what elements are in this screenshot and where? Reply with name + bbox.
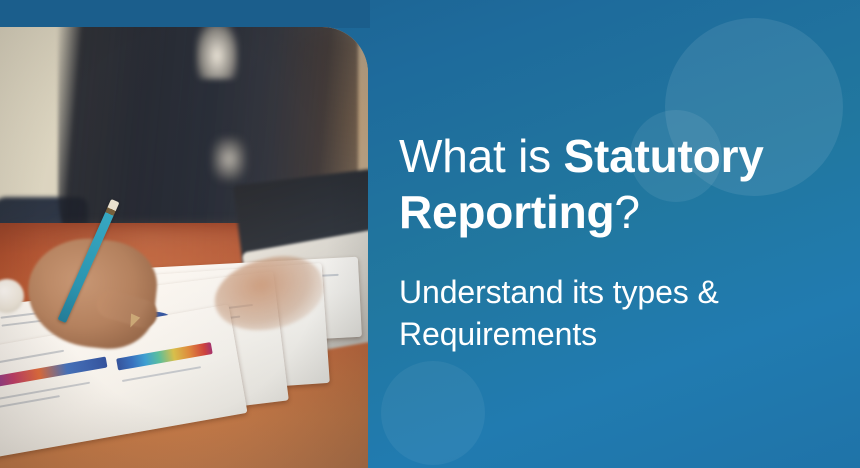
decorative-circle-bottom-icon: [381, 361, 485, 465]
subtitle-line-2: Requirements: [399, 316, 597, 352]
photo-vignette: [0, 27, 368, 468]
text-column: What is Statutory Reporting? Understand …: [399, 128, 819, 355]
subtitle-line-1: Understand its types &: [399, 274, 719, 310]
headline-suffix: ?: [614, 186, 639, 238]
promo-banner: What is Statutory Reporting? Understand …: [0, 0, 860, 468]
headline-prefix: What is: [399, 130, 564, 182]
background-top-strip: [0, 0, 370, 28]
page-subtitle: Understand its types &Requirements: [399, 240, 819, 355]
page-title: What is Statutory Reporting?: [399, 128, 819, 240]
hero-photo: [0, 27, 368, 468]
